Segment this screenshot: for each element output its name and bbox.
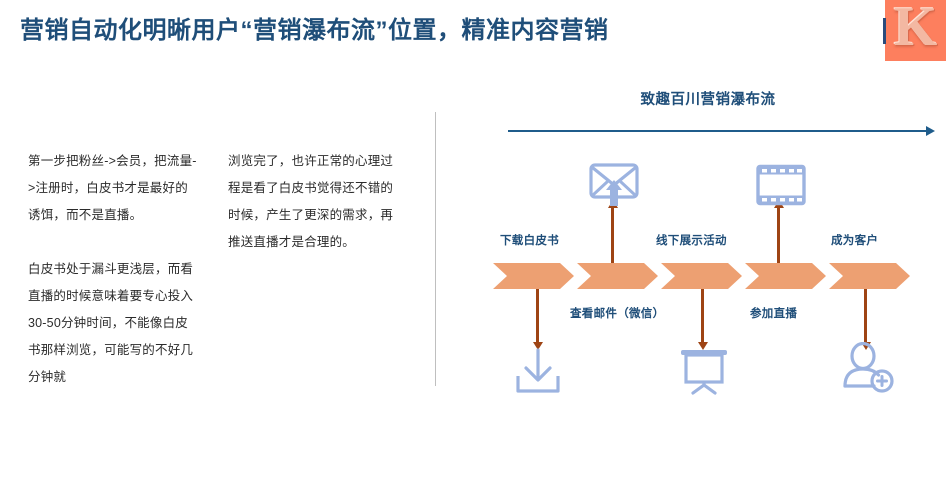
- stage-label-above-become-customer: 成为客户: [831, 232, 878, 248]
- process-chevron: [577, 263, 658, 289]
- body-text-column-2: 浏览完了，也许正常的心理过程是看了白皮书觉得还不错的时候，产生了更深的需求，再推…: [228, 148, 396, 256]
- envelope-upload-icon: [588, 162, 640, 208]
- diagram-title: 致趣百川营销瀑布流: [470, 88, 946, 109]
- download-tray-icon: [513, 347, 563, 395]
- axis-line: [508, 130, 928, 132]
- connector-arrow-down-customer: [864, 289, 867, 343]
- process-chevron-band: [493, 263, 910, 289]
- slide-canvas: 营销自动化明晰用户“营销瀑布流”位置，精准内容营销 K 第一步把粉丝->会员，把…: [0, 0, 946, 489]
- connector-arrow-up-film: [777, 207, 780, 263]
- paragraph: 白皮书处于漏斗更浅层，而看直播的时候意味着要专心投入30-50分钟时间，不能像白…: [28, 256, 200, 391]
- brand-logo: K: [885, 0, 946, 61]
- page-title: 营销自动化明晰用户“营销瀑布流”位置，精准内容营销: [20, 14, 870, 48]
- stage-label-below-join-livestream: 参加直播: [750, 305, 797, 321]
- film-strip-icon: [755, 164, 807, 206]
- process-chevron: [745, 263, 826, 289]
- flow-direction-arrow: [508, 126, 935, 136]
- connector-arrow-up-email: [611, 207, 614, 263]
- stage-label-above-download-whitepaper: 下载白皮书: [500, 232, 559, 248]
- process-chevron: [493, 263, 574, 289]
- marketing-waterfall-diagram: 致趣百川营销瀑布流 下载白皮书 线下展示活动 成为客户 查看邮件（微信） 参加直…: [470, 80, 946, 420]
- add-user-icon: [840, 342, 896, 394]
- projector-screen-icon: [678, 346, 730, 396]
- paragraph: 浏览完了，也许正常的心理过程是看了白皮书觉得还不错的时候，产生了更深的需求，再推…: [228, 148, 396, 256]
- vertical-divider: [435, 112, 436, 386]
- stage-label-above-offline-event: 线下展示活动: [656, 232, 727, 248]
- connector-arrow-down-download: [536, 289, 539, 343]
- connector-arrow-down-projector: [701, 289, 704, 343]
- axis-arrowhead-icon: [926, 126, 935, 136]
- paragraph: 第一步把粉丝->会员，把流量->注册时，白皮书才是最好的诱饵，而不是直播。: [28, 148, 200, 229]
- process-chevron: [661, 263, 742, 289]
- stage-label-below-check-email-wechat: 查看邮件（微信）: [570, 305, 664, 321]
- logo-letter-k: K: [885, 0, 946, 61]
- process-chevron: [829, 263, 910, 289]
- body-text-column-1: 第一步把粉丝->会员，把流量->注册时，白皮书才是最好的诱饵，而不是直播。 白皮…: [28, 148, 200, 391]
